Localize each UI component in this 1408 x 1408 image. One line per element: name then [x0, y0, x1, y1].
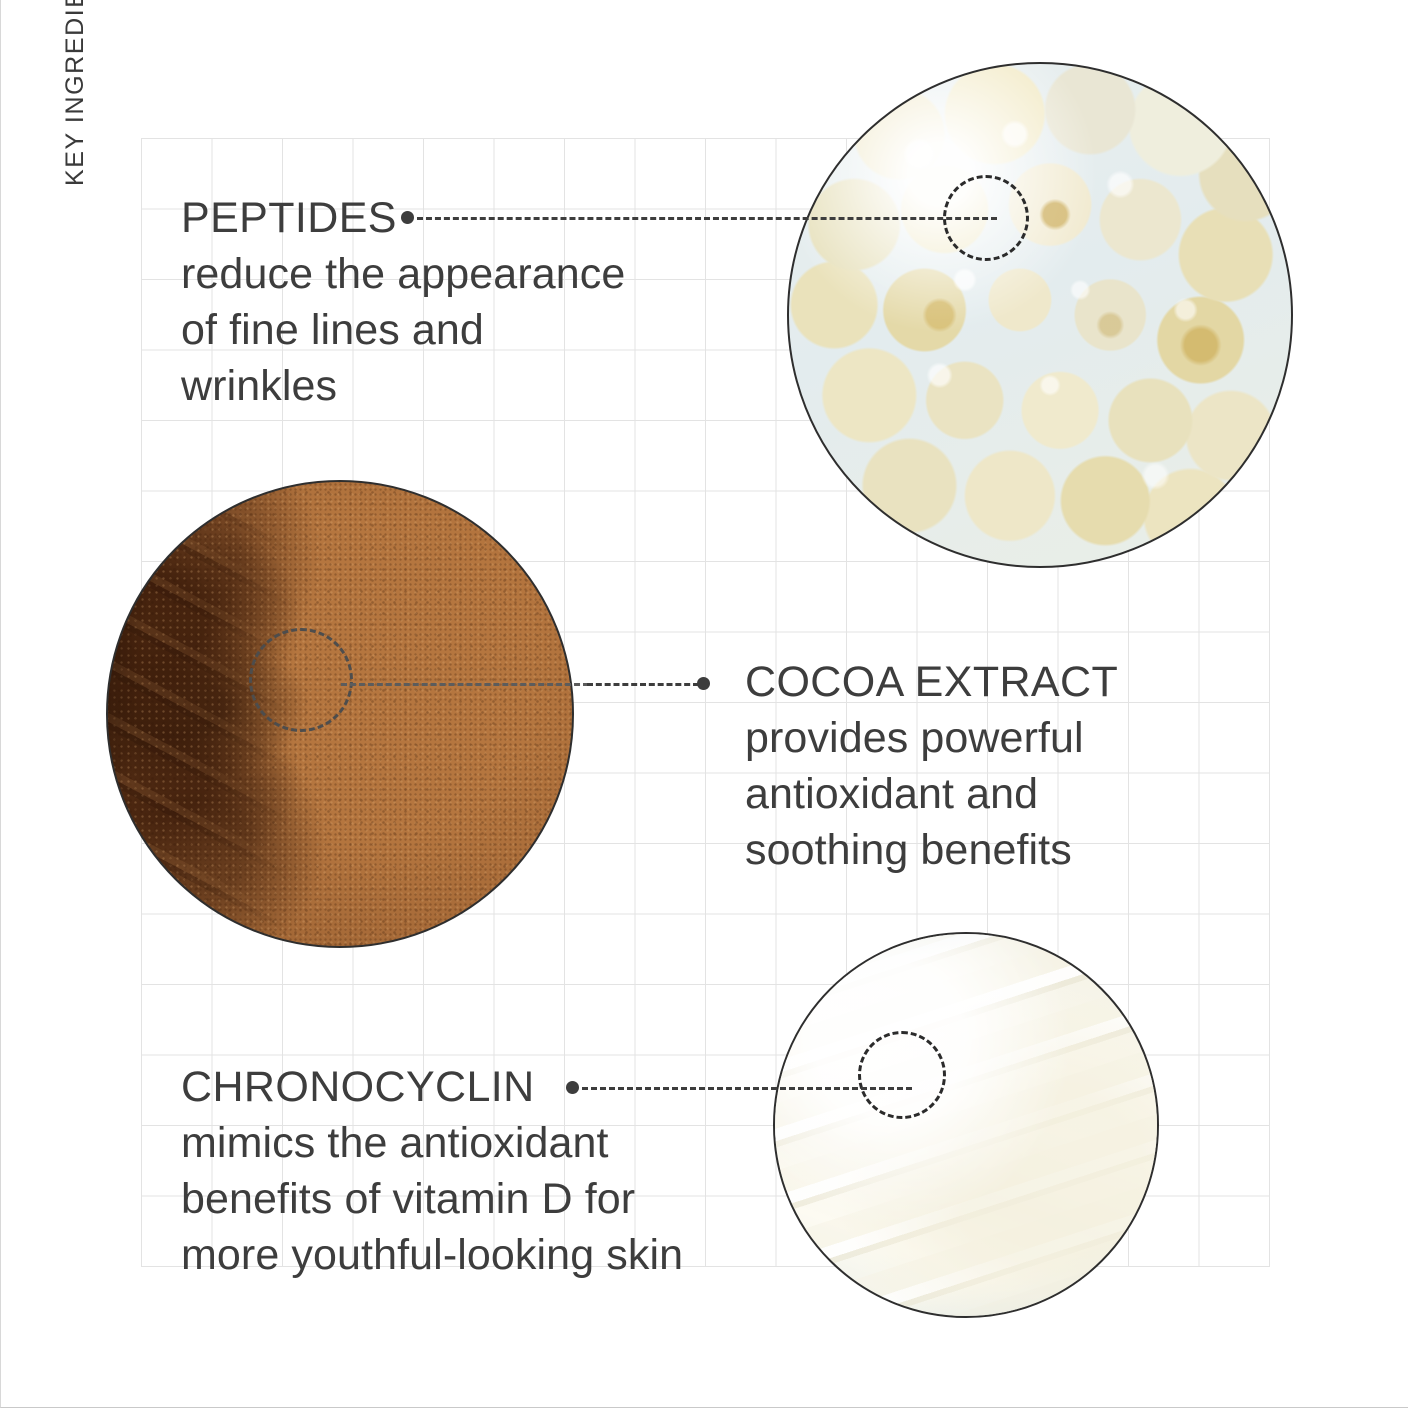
ingredient-text-chronocyclin: CHRONOCYCLIN mimics the antioxidant bene…	[181, 1060, 741, 1284]
ingredient-text-peptides: PEPTIDES reduce the appearance of fine l…	[181, 191, 651, 415]
section-vertical-label: KEY INGREDIENTS	[53, 0, 97, 186]
key-ingredients-infographic: KEY INGREDIENTS PEPTIDES reduce the appe…	[0, 0, 1408, 1408]
capsule-highlights	[789, 64, 1291, 566]
leader-line-cocoa-extract	[587, 683, 699, 686]
ingredient-photo-cocoa-extract	[106, 480, 574, 948]
ingredient-description-peptides: reduce the appearance of fine lines and …	[181, 247, 651, 415]
powder-ridges	[108, 482, 572, 946]
ingredient-photo-chronocyclin	[773, 932, 1159, 1318]
ingredient-photo-peptides	[787, 62, 1293, 568]
ingredient-text-cocoa-extract: COCOA EXTRACT provides powerful antioxid…	[745, 655, 1175, 879]
leader-line-cocoa-extract-inner	[341, 683, 589, 686]
ingredient-name-chronocyclin: CHRONOCYCLIN	[181, 1060, 741, 1116]
ingredient-name-peptides: PEPTIDES	[181, 191, 651, 247]
ingredient-name-cocoa-extract: COCOA EXTRACT	[745, 655, 1175, 711]
ingredient-description-chronocyclin: mimics the antioxidant benefits of vitam…	[181, 1116, 741, 1284]
butter-shading	[775, 934, 1157, 1316]
ingredient-description-cocoa-extract: provides powerful antioxidant and soothi…	[745, 711, 1175, 879]
connector-dot-cocoa-extract	[697, 677, 710, 690]
